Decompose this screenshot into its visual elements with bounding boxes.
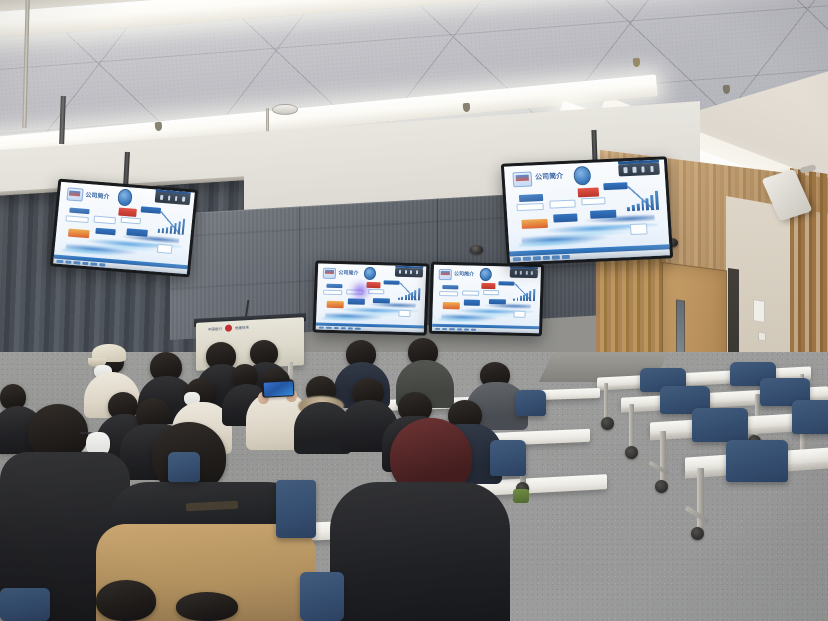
- light-switch[interactable]: [758, 331, 766, 341]
- wall-information-plate: [753, 299, 765, 323]
- backpack-on-floor: [513, 489, 529, 503]
- bar-7: [533, 289, 535, 302]
- slide-globe-icon: [364, 267, 376, 281]
- slide-node-blue-2: [69, 207, 90, 214]
- classroom-photo: 公司简介: [0, 0, 828, 621]
- chair-row4-1[interactable]: [726, 440, 788, 482]
- table-caster: [601, 417, 614, 430]
- left-display-screen: 公司简介: [53, 182, 195, 274]
- slide-toolbar: [395, 268, 423, 277]
- left-wall-display[interactable]: 公司简介: [50, 179, 198, 278]
- torso: [330, 482, 510, 621]
- slide-toolbar: [618, 163, 660, 177]
- chair-mid-1[interactable]: [168, 452, 200, 482]
- chair-row3-2[interactable]: [792, 400, 828, 434]
- smartphone[interactable]: [262, 379, 295, 398]
- slide-node-white-4: [630, 224, 648, 235]
- phone-screen: [263, 381, 293, 396]
- slide-node-white-4: [157, 244, 173, 254]
- slide-laptop-icon: [323, 268, 336, 279]
- lectern-logo-mark-red: [225, 324, 232, 331]
- slide-title: 公司简介: [338, 269, 358, 277]
- toolbar-btn-1: [160, 195, 163, 200]
- slide-laptop-icon: [512, 171, 532, 187]
- slide-canvas-left: 公司简介: [53, 182, 195, 274]
- slide-globe-icon: [480, 268, 492, 281]
- slide-node-white-3: [483, 290, 499, 296]
- slide-toolbar: [155, 192, 191, 205]
- chair-mid-3[interactable]: [516, 390, 546, 416]
- smoke-detector: [272, 104, 298, 115]
- table-caster: [625, 446, 638, 459]
- chair-foreground-3[interactable]: [300, 572, 344, 621]
- table-leg: [660, 431, 666, 483]
- lectern-logo-text: 中国银行: [208, 326, 222, 332]
- slide-canvas-right: 公司简介: [504, 159, 670, 262]
- chair-foreground-2[interactable]: [0, 588, 50, 621]
- table-caster: [691, 527, 704, 540]
- slide-globe-icon: [117, 189, 133, 206]
- slide-node-red: [119, 208, 137, 217]
- head: [96, 580, 156, 621]
- chair-mid-2[interactable]: [490, 440, 526, 476]
- slide-title: 公司简介: [535, 171, 564, 182]
- toolbar-btn-4: [182, 197, 185, 202]
- right-wall-display[interactable]: 公司简介: [501, 156, 673, 265]
- chair-foreground-1[interactable]: [276, 480, 316, 538]
- slide-title: 公司简介: [85, 190, 110, 201]
- slide-node-white-3: [120, 216, 141, 224]
- center-left-display[interactable]: 公司简介: [313, 260, 430, 335]
- dome-camera-center: [470, 245, 483, 254]
- bar-7: [182, 218, 186, 234]
- bar-7: [418, 288, 420, 301]
- slide-node-blue-2: [442, 285, 458, 290]
- center-right-display-screen: 公司简介: [432, 265, 541, 333]
- slide-canvas-center-right: 公司简介: [432, 265, 541, 333]
- head: [176, 592, 238, 621]
- slide-title: 公司简介: [454, 270, 474, 277]
- slide-node-white-4: [398, 309, 410, 317]
- slide-laptop-icon: [439, 269, 452, 280]
- center-right-display[interactable]: 公司简介: [429, 262, 544, 337]
- toolbar-btn-2: [168, 196, 171, 201]
- slide-node-red: [481, 283, 495, 289]
- slide-laptop-icon: [66, 187, 83, 201]
- center-left-display-screen: 公司简介: [316, 264, 426, 333]
- slide-node-blue-2: [326, 284, 342, 289]
- slide-node-white-4: [514, 310, 526, 318]
- slide-node-blue-2: [519, 194, 543, 202]
- slide-canvas-center-left: 公司简介: [316, 264, 426, 333]
- lectern-logo-text-2: 党建阵地: [235, 325, 249, 331]
- chair-row3-1[interactable]: [692, 408, 748, 442]
- table-leg: [604, 383, 608, 419]
- slide-node-red: [578, 187, 599, 197]
- bar-7: [655, 191, 659, 210]
- slide-node-white-3: [581, 197, 605, 206]
- table-leg: [629, 404, 634, 448]
- slide-globe-icon: [573, 166, 592, 186]
- table-caster: [655, 480, 668, 493]
- right-display-screen: 公司简介: [504, 159, 670, 262]
- toolbar-btn-3: [175, 196, 178, 201]
- slide-projector-hotspot: [349, 280, 371, 300]
- slide-toolbar: [510, 268, 538, 277]
